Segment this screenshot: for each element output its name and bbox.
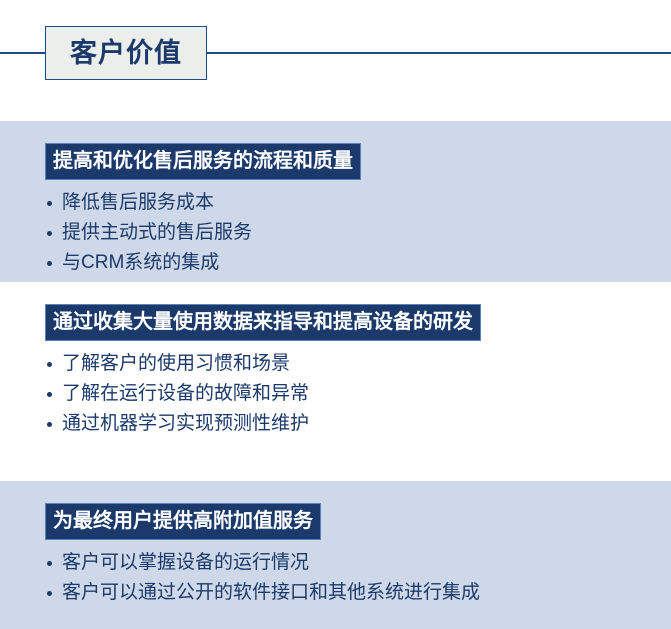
bullet-text: 客户可以掌握设备的运行情况 <box>62 552 309 573</box>
section-bullets-2: 了解客户的使用习惯和场景 了解在运行设备的故障和异常 通过机器学习实现预测性维护 <box>45 352 671 436</box>
list-item: 客户可以通过公开的软件接口和其他系统进行集成 <box>45 581 671 604</box>
bullet-dot-icon <box>47 561 52 566</box>
bullet-text: 客户可以通过公开的软件接口和其他系统进行集成 <box>62 582 480 603</box>
bullet-text: 与CRM系统的集成 <box>62 252 219 273</box>
bullet-dot-icon <box>47 392 52 397</box>
bullet-text: 通过机器学习实现预测性维护 <box>62 413 309 434</box>
slide-page: 客户价值 提高和优化售后服务的流程和质量 降低售后服务成本 提供主动式的售后服务… <box>0 0 671 629</box>
page-title: 客户价值 <box>70 40 182 67</box>
bullet-dot-icon <box>47 362 52 367</box>
bullet-text: 提供主动式的售后服务 <box>62 222 252 243</box>
bullet-dot-icon <box>47 231 52 236</box>
list-item: 降低售后服务成本 <box>45 191 671 214</box>
section-heading-1: 提高和优化售后服务的流程和质量 <box>45 143 361 180</box>
page-title-box: 客户价值 <box>45 26 207 80</box>
list-item: 了解在运行设备的故障和异常 <box>45 382 671 405</box>
list-item: 客户可以掌握设备的运行情况 <box>45 551 671 574</box>
bullet-text: 降低售后服务成本 <box>62 192 214 213</box>
bullet-dot-icon <box>47 261 52 266</box>
bullet-dot-icon <box>47 591 52 596</box>
section-block-2: 通过收集大量使用数据来指导和提高设备的研发 了解客户的使用习惯和场景 了解在运行… <box>0 282 671 481</box>
section-heading-3: 为最终用户提供高附加值服务 <box>45 503 321 540</box>
bullet-text: 了解客户的使用习惯和场景 <box>62 353 290 374</box>
section-heading-2: 通过收集大量使用数据来指导和提高设备的研发 <box>45 304 481 341</box>
section-bullets-1: 降低售后服务成本 提供主动式的售后服务 与CRM系统的集成 <box>45 191 671 275</box>
section-block-3: 为最终用户提供高附加值服务 客户可以掌握设备的运行情况 客户可以通过公开的软件接… <box>0 481 671 629</box>
list-item: 提供主动式的售后服务 <box>45 221 671 244</box>
list-item: 通过机器学习实现预测性维护 <box>45 412 671 435</box>
bullet-dot-icon <box>47 422 52 427</box>
bullet-text: 了解在运行设备的故障和异常 <box>62 383 309 404</box>
bullet-dot-icon <box>47 201 52 206</box>
list-item: 与CRM系统的集成 <box>45 251 671 274</box>
page-header: 客户价值 <box>0 0 671 121</box>
section-bullets-3: 客户可以掌握设备的运行情况 客户可以通过公开的软件接口和其他系统进行集成 <box>45 551 671 604</box>
list-item: 了解客户的使用习惯和场景 <box>45 352 671 375</box>
section-block-1: 提高和优化售后服务的流程和质量 降低售后服务成本 提供主动式的售后服务 与CRM… <box>0 121 671 282</box>
